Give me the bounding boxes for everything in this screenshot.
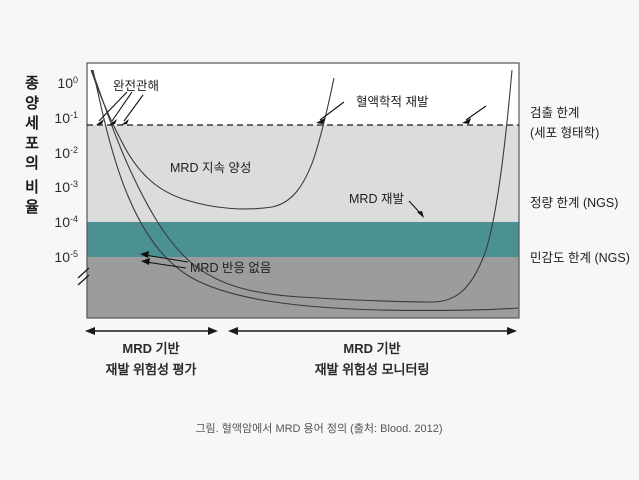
y-axis-title-char-4: 의 <box>25 154 39 172</box>
annotation-label-complete-remission: 완전관해 <box>113 79 159 93</box>
bracket-risk-monitoring-line2: 재발 위험성 모니터링 <box>315 362 430 377</box>
bracket-risk-assessment-line1: MRD 기반 <box>122 341 179 356</box>
y-axis-title-char-3: 포 <box>25 135 39 152</box>
annotation-label-mrd-persistent-positive: MRD 지속 양성 <box>170 161 251 175</box>
annotation-label-no-mrd-response: MRD 반응 없음 <box>190 261 271 275</box>
band-dark-gray <box>87 257 519 318</box>
legend-detection-limit-line2: (세포 형태학) <box>530 126 599 140</box>
band-light-gray <box>87 125 519 222</box>
y-axis-title-char-0: 종 <box>25 75 39 92</box>
y-axis-title-char-1: 양 <box>25 95 39 112</box>
legend-sensitivity-limit: 민감도 한계 (NGS) <box>530 251 630 265</box>
legend-sensitivity-limit-line1: 민감도 한계 (NGS) <box>530 251 630 265</box>
y-axis-title-char-5: 비 <box>25 179 39 196</box>
y-axis-title: 종 양 세 포 의 비 율 <box>25 75 39 216</box>
figure-caption: 그림. 혈액암에서 MRD 용어 정의 (출처: Blood. 2012) <box>195 421 442 435</box>
bracket-risk-assessment-line2: 재발 위험성 평가 <box>106 362 197 377</box>
bracket-risk-monitoring-line1: MRD 기반 <box>343 341 400 356</box>
legend-quantitation-limit-line1: 정량 한계 (NGS) <box>530 196 618 210</box>
mrd-definition-chart: 100 10-1 10-2 10-3 10-4 10-5 종 양 세 포 의 비… <box>0 0 639 480</box>
annotation-label-mrd-relapse: MRD 재발 <box>349 192 404 206</box>
legend-quantitation-limit: 정량 한계 (NGS) <box>530 196 618 210</box>
annotation-label-hematologic-relapse: 혈액학적 재발 <box>356 95 429 109</box>
band-above-detection <box>87 63 519 125</box>
legend-detection-limit-line1: 검출 한계 <box>530 106 579 120</box>
y-axis-title-char-6: 율 <box>25 199 39 216</box>
y-axis-title-char-2: 세 <box>25 115 39 132</box>
figure-root: 100 10-1 10-2 10-3 10-4 10-5 종 양 세 포 의 비… <box>0 0 639 480</box>
plot-bands <box>87 63 519 318</box>
